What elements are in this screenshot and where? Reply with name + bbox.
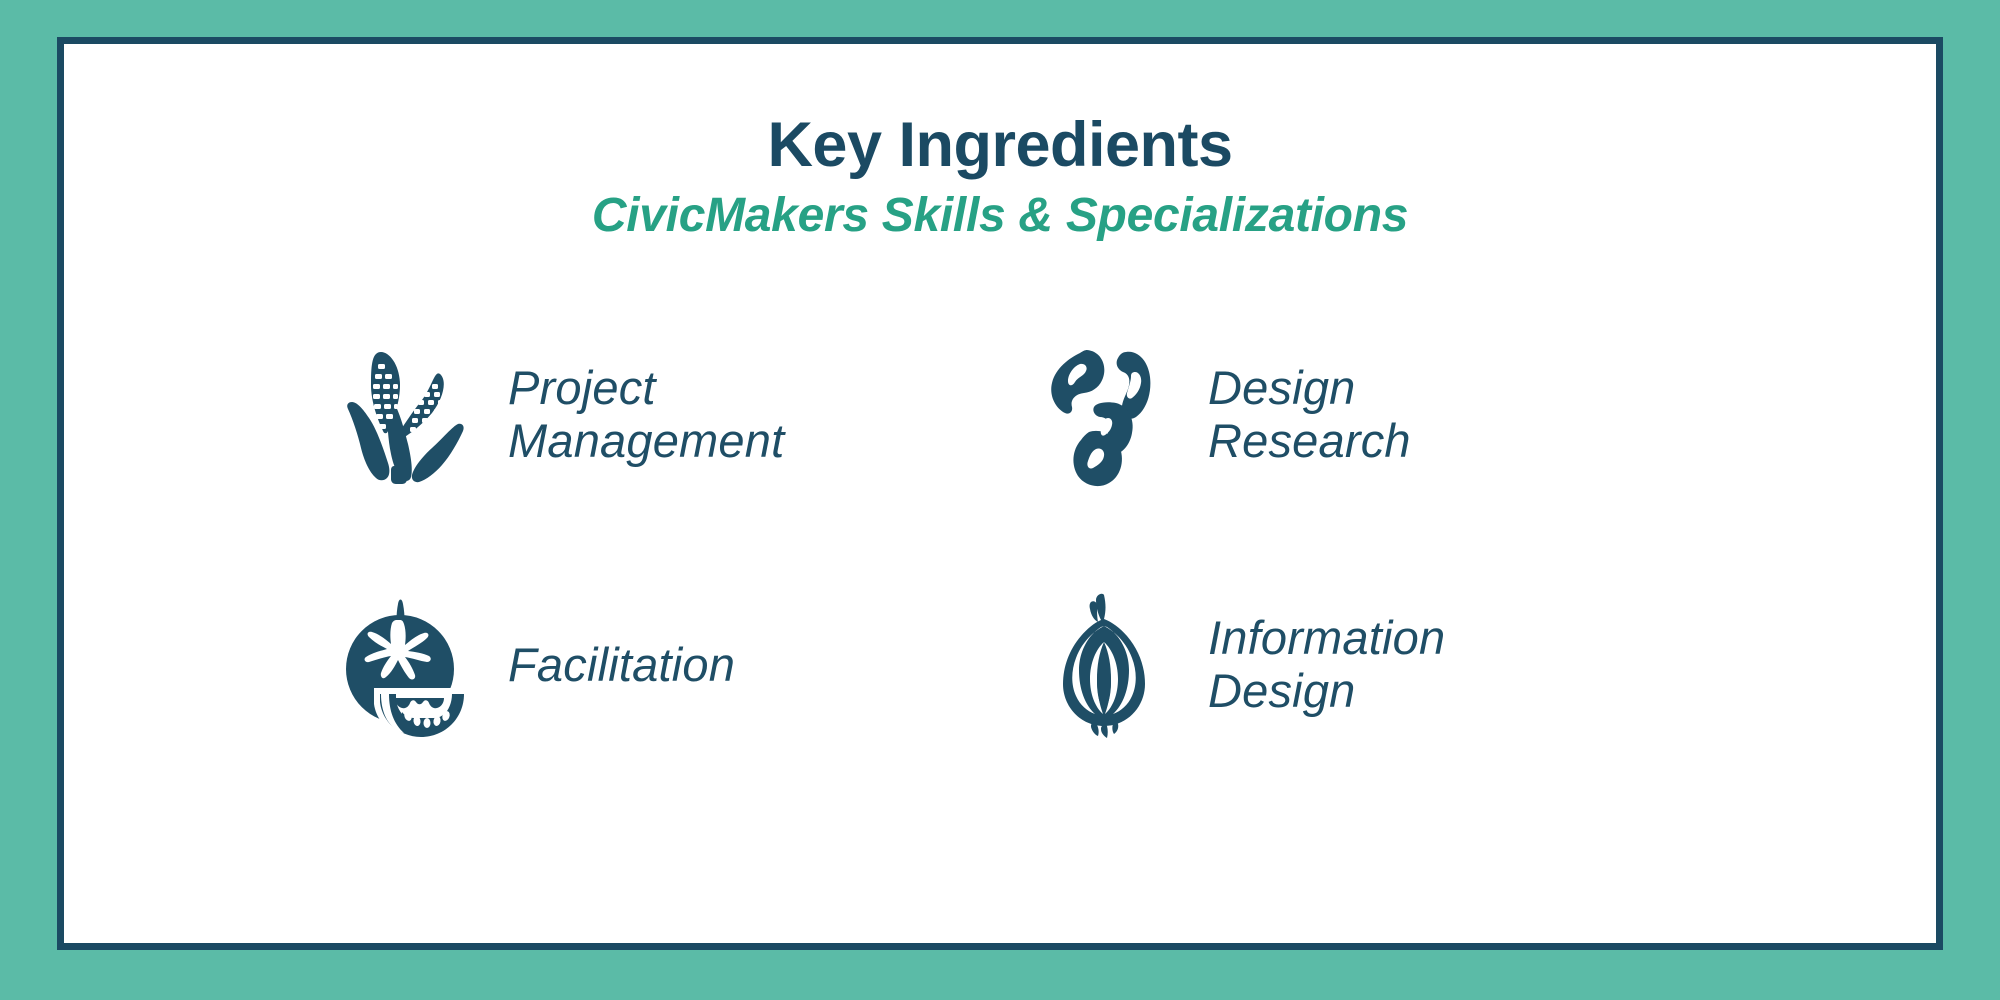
corn-icon [334,340,474,490]
heading-block: Key Ingredients CivicMakers Skills & Spe… [64,44,1936,243]
onion-icon [1034,590,1174,740]
page-subtitle: CivicMakers Skills & Specializations [64,178,1936,243]
ingredient-item-design-research[interactable]: Design Research [1034,330,1734,500]
ingredient-label: Information Design [1208,612,1445,717]
ingredient-label: Design Research [1208,362,1411,467]
page-title: Key Ingredients [64,44,1936,178]
ingredients-grid: Project Management [334,330,1734,750]
ingredient-item-project-management[interactable]: Project Management [334,330,1034,500]
ingredient-label: Facilitation [508,639,735,692]
ingredient-item-facilitation[interactable]: Facilitation [334,580,1034,750]
ingredient-item-information-design[interactable]: Information Design [1034,580,1734,750]
tomato-icon [334,590,474,740]
slide-card: Key Ingredients CivicMakers Skills & Spe… [57,37,1943,950]
beans-icon [1034,340,1174,490]
ingredient-label: Project Management [508,362,784,467]
